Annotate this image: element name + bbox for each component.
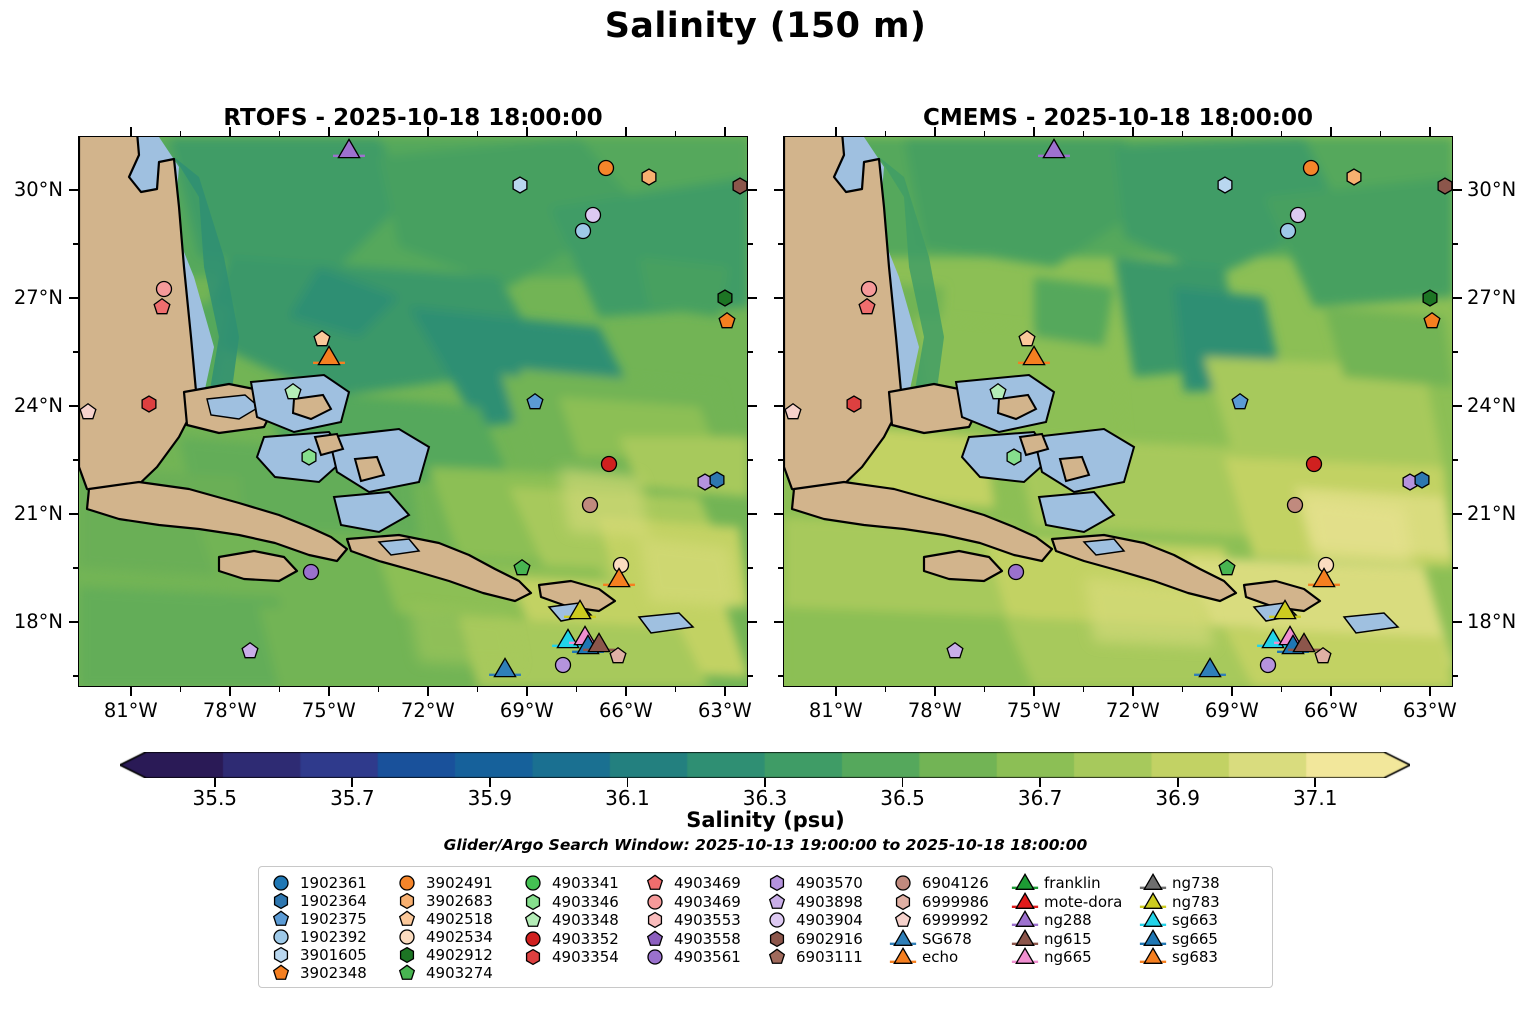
legend-marker-hexagon-icon bbox=[520, 893, 546, 911]
legend-item-sg665[interactable]: sg665 bbox=[1140, 930, 1220, 949]
legend-item-4902534[interactable]: 4902534 bbox=[394, 928, 520, 946]
map-panel-cmems[interactable] bbox=[783, 136, 1453, 687]
legend-item-4903341[interactable]: 4903341 bbox=[520, 874, 642, 893]
legend-item-sg683[interactable]: sg683 bbox=[1140, 948, 1220, 967]
xtick-major-top bbox=[1330, 127, 1332, 136]
legend-label: sg665 bbox=[1172, 930, 1218, 948]
legend-marker-circle-icon bbox=[642, 893, 668, 911]
legend-item-4903354[interactable]: 4903354 bbox=[520, 948, 642, 967]
legend-marker-circle-icon bbox=[520, 874, 546, 892]
xtick-major-top bbox=[835, 127, 837, 136]
map-marker-sg683[interactable] bbox=[316, 345, 341, 370]
map-marker-4903352[interactable] bbox=[1303, 452, 1326, 475]
map-marker-ng783[interactable] bbox=[567, 599, 592, 624]
legend-label: 1902364 bbox=[300, 892, 367, 910]
legend-item-franklin[interactable]: franklin bbox=[1012, 874, 1140, 893]
legend-marker-hexagon-icon bbox=[394, 892, 420, 910]
legend-item-4903352[interactable]: 4903352 bbox=[520, 930, 642, 949]
ytick-major-right bbox=[1453, 621, 1462, 623]
legend-item-6999986[interactable]: 6999986 bbox=[890, 893, 1012, 912]
ytick-major bbox=[69, 297, 78, 299]
legend-label: sg663 bbox=[1172, 911, 1218, 929]
ytick-major bbox=[69, 513, 78, 515]
legend-marker-circle-icon bbox=[520, 930, 546, 948]
xtick-minor-top bbox=[1182, 131, 1184, 136]
legend-marker-circle-icon bbox=[642, 948, 668, 966]
ytick-major bbox=[774, 513, 783, 515]
xtick-label: 69°W bbox=[482, 699, 572, 722]
ytick-minor bbox=[73, 243, 78, 245]
xtick-minor-top bbox=[984, 131, 986, 136]
map-marker-4903898[interactable] bbox=[238, 639, 261, 662]
ytick-minor-right bbox=[1453, 243, 1458, 245]
xtick-minor-top bbox=[576, 131, 578, 136]
legend-item-1902392[interactable]: 1902392 bbox=[268, 928, 394, 946]
ytick-minor-right bbox=[748, 243, 753, 245]
xtick-label: 75°W bbox=[284, 699, 374, 722]
legend-label: 4902912 bbox=[426, 946, 493, 964]
legend-label: 3902491 bbox=[426, 874, 493, 892]
ytick-major bbox=[774, 297, 783, 299]
map-marker-6904126[interactable] bbox=[578, 494, 601, 517]
xtick-major bbox=[1132, 687, 1134, 696]
legend-column-5: 49035704903898490390469029166903111 bbox=[764, 874, 890, 980]
legend-label: sg683 bbox=[1172, 948, 1218, 966]
xtick-major bbox=[328, 687, 330, 696]
legend-label: 4902518 bbox=[426, 910, 493, 928]
legend-marker-hexagon-icon bbox=[394, 946, 420, 964]
map-marker-4903348[interactable] bbox=[281, 380, 304, 403]
map-marker-SG678[interactable] bbox=[1198, 656, 1223, 681]
xtick-label: 81°W bbox=[86, 699, 176, 722]
xtick-label: 81°W bbox=[791, 699, 881, 722]
map-marker-4903469a[interactable] bbox=[151, 296, 174, 319]
map-marker-1902392[interactable] bbox=[1276, 220, 1299, 243]
legend-column-7: franklinmote-dorang288ng615ng665 bbox=[1012, 874, 1140, 980]
xtick-major bbox=[625, 687, 627, 696]
map-marker-1902364[interactable] bbox=[705, 468, 728, 491]
legend-item-3901605[interactable]: 3901605 bbox=[268, 946, 394, 964]
legend-item-4903346[interactable]: 4903346 bbox=[520, 893, 642, 912]
legend-label: ng783 bbox=[1172, 893, 1220, 911]
xtick-label: 66°W bbox=[1286, 699, 1376, 722]
xtick-label: 69°W bbox=[1187, 699, 1277, 722]
legend-item-4903904[interactable]: 4903904 bbox=[764, 911, 890, 930]
xtick-minor-top bbox=[279, 131, 281, 136]
legend-marker-hexagon-icon bbox=[268, 946, 294, 964]
search-window-text: Glider/Argo Search Window: 2025-10-13 19… bbox=[0, 836, 1531, 854]
xtick-major bbox=[130, 687, 132, 696]
legend-item-1902375[interactable]: 1902375 bbox=[268, 910, 394, 928]
map-marker-3902683[interactable] bbox=[637, 166, 660, 189]
xtick-major-top bbox=[526, 127, 528, 136]
legend-marker-circle-icon bbox=[268, 874, 294, 892]
legend-marker-hexagon-icon bbox=[764, 930, 790, 948]
legend-label: 6999986 bbox=[922, 893, 989, 911]
xtick-major bbox=[934, 687, 936, 696]
ytick-minor-right bbox=[748, 351, 753, 353]
ytick-minor bbox=[73, 459, 78, 461]
legend-label: 4903904 bbox=[796, 911, 863, 929]
ytick-minor bbox=[778, 675, 783, 677]
ytick-label-right: 27°N bbox=[1467, 286, 1531, 309]
xtick-label: 78°W bbox=[185, 699, 275, 722]
ytick-major bbox=[69, 189, 78, 191]
legend-label: 4903898 bbox=[796, 893, 863, 911]
legend-item-1902361[interactable]: 1902361 bbox=[268, 874, 394, 892]
map-marker-4903274[interactable] bbox=[510, 557, 533, 580]
legend-label: 4903341 bbox=[552, 874, 619, 892]
legend-item-6904126[interactable]: 6904126 bbox=[890, 874, 1012, 893]
legend-marker-hexagon-icon bbox=[890, 893, 916, 911]
legend-marker-triangle-line-icon bbox=[1012, 874, 1038, 892]
xtick-minor bbox=[1083, 687, 1085, 692]
legend-marker-triangle-line-icon bbox=[890, 948, 916, 966]
legend-item-4903469[interactable]: 4903469 bbox=[642, 874, 764, 893]
map-marker-6902916[interactable] bbox=[728, 175, 751, 198]
map-marker-1902392[interactable] bbox=[571, 220, 594, 243]
legend-label: 3902683 bbox=[426, 892, 493, 910]
xtick-major-top bbox=[934, 127, 936, 136]
legend-marker-triangle-line-icon bbox=[890, 930, 916, 948]
ytick-label: 24°N bbox=[0, 394, 63, 417]
xtick-major-top bbox=[328, 127, 330, 136]
legend-column-8: ng738ng783sg663sg665sg683 bbox=[1140, 874, 1220, 980]
xtick-minor-top bbox=[1380, 131, 1382, 136]
map-marker-sg683[interactable] bbox=[1021, 345, 1046, 370]
legend-label: 6904126 bbox=[922, 874, 989, 892]
legend-item-1902364[interactable]: 1902364 bbox=[268, 892, 394, 910]
legend-marker-pentagon-icon bbox=[394, 964, 420, 982]
xtick-major bbox=[427, 687, 429, 696]
map-marker-SG678[interactable] bbox=[493, 656, 518, 681]
legend-label: mote-dora bbox=[1044, 893, 1122, 911]
legend-marker-triangle-line-icon bbox=[1140, 874, 1166, 892]
map-marker-3902491[interactable] bbox=[1300, 157, 1323, 180]
ytick-minor bbox=[778, 243, 783, 245]
ytick-major bbox=[69, 621, 78, 623]
map-marker-3901605[interactable] bbox=[509, 173, 532, 196]
colorbar-tick-label: 36.1 bbox=[577, 786, 677, 810]
ytick-major bbox=[774, 621, 783, 623]
xtick-label: 66°W bbox=[581, 699, 671, 722]
legend-marker-triangle-line-icon bbox=[1012, 930, 1038, 948]
map-marker-ng288[interactable] bbox=[1041, 138, 1066, 163]
legend-item-ng288[interactable]: ng288 bbox=[1012, 911, 1140, 930]
legend-column-4: 49034694903469490355349035584903561 bbox=[642, 874, 764, 980]
legend-label: 4902534 bbox=[426, 928, 493, 946]
legend-marker-pentagon-icon bbox=[764, 948, 790, 966]
legend-item-ng783[interactable]: ng783 bbox=[1140, 893, 1220, 912]
map-marker-4903561[interactable] bbox=[1004, 560, 1027, 583]
xtick-label: 75°W bbox=[989, 699, 1079, 722]
legend-marker-pentagon-icon bbox=[394, 910, 420, 928]
xtick-minor bbox=[1281, 687, 1283, 692]
map-marker-4903570b[interactable] bbox=[1257, 654, 1280, 677]
map-marker-sg683b[interactable] bbox=[607, 566, 632, 591]
ytick-minor-right bbox=[748, 459, 753, 461]
legend-marker-pentagon-icon bbox=[890, 911, 916, 929]
legend-item-4903570[interactable]: 4903570 bbox=[764, 874, 890, 893]
colorbar-tick-label: 35.5 bbox=[165, 786, 265, 810]
legend-item-echo[interactable]: echo bbox=[890, 948, 1012, 967]
legend-marker-triangle-line-icon bbox=[1012, 911, 1038, 929]
xtick-minor-top bbox=[885, 131, 887, 136]
legend-label: 4903469 bbox=[674, 874, 741, 892]
ytick-label-right: 24°N bbox=[1467, 394, 1531, 417]
xtick-major bbox=[526, 687, 528, 696]
legend-label: 4903352 bbox=[552, 930, 619, 948]
ytick-label: 27°N bbox=[0, 286, 63, 309]
ytick-minor-right bbox=[1453, 567, 1458, 569]
ytick-major-right bbox=[748, 297, 757, 299]
xtick-label: 72°W bbox=[383, 699, 473, 722]
xtick-minor bbox=[1182, 687, 1184, 692]
ytick-minor bbox=[778, 351, 783, 353]
xtick-major bbox=[724, 687, 726, 696]
legend-item-sg663[interactable]: sg663 bbox=[1140, 911, 1220, 930]
legend-marker-pentagon-icon bbox=[642, 930, 668, 948]
xtick-minor bbox=[675, 687, 677, 692]
xtick-major-top bbox=[724, 127, 726, 136]
legend-marker-pentagon-icon bbox=[520, 911, 546, 929]
xtick-major bbox=[1330, 687, 1332, 696]
ytick-minor-right bbox=[1453, 351, 1458, 353]
ytick-minor-right bbox=[1453, 675, 1458, 677]
xtick-minor-top bbox=[1281, 131, 1283, 136]
legend-marker-triangle-line-icon bbox=[1012, 948, 1038, 966]
legend-label: ng665 bbox=[1044, 948, 1092, 966]
map-marker-3902683[interactable] bbox=[1342, 166, 1365, 189]
xtick-major bbox=[1231, 687, 1233, 696]
xtick-minor-top bbox=[477, 131, 479, 136]
legend-item-4903561[interactable]: 4903561 bbox=[642, 948, 764, 967]
ytick-minor-right bbox=[1453, 459, 1458, 461]
legend-label: 4903348 bbox=[552, 911, 619, 929]
ytick-label: 18°N bbox=[0, 610, 63, 633]
map-marker-4903346[interactable] bbox=[1003, 445, 1026, 468]
legend-marker-circle-icon bbox=[268, 928, 294, 946]
xtick-minor bbox=[1380, 687, 1382, 692]
ytick-major-right bbox=[748, 513, 757, 515]
xtick-major-top bbox=[229, 127, 231, 136]
colorbar-tick-label: 36.9 bbox=[1128, 786, 1228, 810]
ytick-minor bbox=[73, 567, 78, 569]
map-marker-4902912[interactable] bbox=[713, 287, 736, 310]
map-marker-3902348[interactable] bbox=[715, 310, 738, 333]
legend-item-4903348[interactable]: 4903348 bbox=[520, 911, 642, 930]
legend-label: 4903469 bbox=[674, 893, 741, 911]
ytick-label: 21°N bbox=[0, 502, 63, 525]
legend-item-ng738[interactable]: ng738 bbox=[1140, 874, 1220, 893]
xtick-major-top bbox=[1231, 127, 1233, 136]
xtick-major-top bbox=[625, 127, 627, 136]
legend-marker-hexagon-icon bbox=[642, 911, 668, 929]
ytick-label-right: 30°N bbox=[1467, 178, 1531, 201]
xtick-major bbox=[229, 687, 231, 696]
ytick-minor-right bbox=[748, 567, 753, 569]
map-marker-sg683b[interactable] bbox=[1312, 566, 1337, 591]
legend-marker-circle-icon bbox=[764, 911, 790, 929]
map-marker-ng783[interactable] bbox=[1272, 599, 1297, 624]
map-marker-6999986[interactable] bbox=[1311, 645, 1334, 668]
legend-item-3902348[interactable]: 3902348 bbox=[268, 964, 394, 982]
ytick-major-right bbox=[1453, 297, 1462, 299]
legend-label: 4903558 bbox=[674, 930, 741, 948]
map-marker-4903354[interactable] bbox=[842, 393, 865, 416]
map-marker-1902375[interactable] bbox=[1229, 391, 1252, 414]
legend-marker-circle-icon bbox=[394, 874, 420, 892]
ytick-minor-right bbox=[748, 675, 753, 677]
ytick-major bbox=[774, 189, 783, 191]
legend-label: 4903553 bbox=[674, 911, 741, 929]
legend-item-4903898[interactable]: 4903898 bbox=[764, 893, 890, 912]
legend-label: franklin bbox=[1044, 874, 1101, 892]
legend-label: 1902392 bbox=[300, 928, 367, 946]
map-marker-4903561[interactable] bbox=[299, 560, 322, 583]
panel-title-rtofs: RTOFS - 2025-10-18 18:00:00 bbox=[78, 105, 748, 131]
legend-label: 4903346 bbox=[552, 893, 619, 911]
xtick-label: 78°W bbox=[890, 699, 980, 722]
xtick-major-top bbox=[427, 127, 429, 136]
legend-marker-circle-icon bbox=[890, 874, 916, 892]
legend-marker-triangle-line-icon bbox=[1140, 893, 1166, 911]
xtick-minor bbox=[378, 687, 380, 692]
legend-item-4903558[interactable]: 4903558 bbox=[642, 930, 764, 949]
xtick-major-top bbox=[130, 127, 132, 136]
xtick-major bbox=[835, 687, 837, 696]
legend-marker-triangle-line-icon bbox=[1140, 948, 1166, 966]
ytick-minor bbox=[73, 351, 78, 353]
legend-item-6902916[interactable]: 6902916 bbox=[764, 930, 890, 949]
map-marker-4903346[interactable] bbox=[298, 445, 321, 468]
map-marker-1902375[interactable] bbox=[524, 391, 547, 414]
map-marker-ng288[interactable] bbox=[336, 138, 361, 163]
legend-item-4902912[interactable]: 4902912 bbox=[394, 946, 520, 964]
legend-item-6999992[interactable]: 6999992 bbox=[890, 911, 1012, 930]
map-marker-4903348[interactable] bbox=[986, 380, 1009, 403]
legend-marker-hexagon-icon bbox=[764, 874, 790, 892]
colorbar-label: Salinity (psu) bbox=[0, 808, 1531, 832]
map-marker-6902916[interactable] bbox=[1433, 175, 1456, 198]
xtick-minor bbox=[477, 687, 479, 692]
legend-item-4902518[interactable]: 4902518 bbox=[394, 910, 520, 928]
legend-label: 3901605 bbox=[300, 946, 367, 964]
legend-marker-hexagon-icon bbox=[520, 948, 546, 966]
xtick-minor bbox=[984, 687, 986, 692]
xtick-major-top bbox=[1429, 127, 1431, 136]
marker-legend[interactable]: 1902361190236419023751902392390160539023… bbox=[258, 866, 1273, 988]
map-marker-1902364[interactable] bbox=[1410, 468, 1433, 491]
xtick-major-top bbox=[1033, 127, 1035, 136]
map-marker-3902491[interactable] bbox=[595, 157, 618, 180]
ytick-major-right bbox=[1453, 405, 1462, 407]
xtick-minor bbox=[180, 687, 182, 692]
map-marker-6999992[interactable] bbox=[781, 400, 804, 423]
map-panel-rtofs[interactable] bbox=[78, 136, 748, 687]
legend-marker-triangle-line-icon bbox=[1140, 930, 1166, 948]
legend-label: echo bbox=[922, 948, 958, 966]
xtick-major bbox=[1033, 687, 1035, 696]
map-marker-3901605[interactable] bbox=[1214, 173, 1237, 196]
map-marker-4903352[interactable] bbox=[598, 452, 621, 475]
map-marker-3902348[interactable] bbox=[1420, 310, 1443, 333]
legend-column-1: 1902361190236419023751902392390160539023… bbox=[268, 874, 394, 980]
ytick-label: 30°N bbox=[0, 178, 63, 201]
legend-column-6: 690412669999866999992SG678echo bbox=[890, 874, 1012, 980]
colorbar-tick-label: 37.1 bbox=[1265, 786, 1365, 810]
legend-item-mote-dora[interactable]: mote-dora bbox=[1012, 893, 1140, 912]
colorbar-tick-label: 35.7 bbox=[302, 786, 402, 810]
ytick-major-right bbox=[748, 621, 757, 623]
xtick-major bbox=[1429, 687, 1431, 696]
colorbar-tick-label: 36.3 bbox=[715, 786, 815, 810]
legend-marker-hexagon-icon bbox=[268, 892, 294, 910]
legend-label: 6902916 bbox=[796, 930, 863, 948]
ytick-minor bbox=[778, 459, 783, 461]
legend-label: 4903570 bbox=[796, 874, 863, 892]
ytick-major-right bbox=[1453, 513, 1462, 515]
legend-label: 4903354 bbox=[552, 948, 619, 966]
map-marker-4903898[interactable] bbox=[943, 639, 966, 662]
map-marker-4903274[interactable] bbox=[1215, 557, 1238, 580]
map-marker-6999986[interactable] bbox=[606, 645, 629, 668]
legend-item-3902491[interactable]: 3902491 bbox=[394, 874, 520, 892]
panel-title-cmems: CMEMS - 2025-10-18 18:00:00 bbox=[783, 105, 1453, 131]
salinity-colorbar bbox=[120, 752, 1410, 778]
xtick-minor-top bbox=[180, 131, 182, 136]
legend-marker-pentagon-icon bbox=[642, 874, 668, 892]
legend-marker-pentagon-icon bbox=[268, 964, 294, 982]
legend-label: 3902348 bbox=[300, 964, 367, 982]
xtick-minor-top bbox=[378, 131, 380, 136]
xtick-minor-top bbox=[1083, 131, 1085, 136]
legend-item-ng665[interactable]: ng665 bbox=[1012, 948, 1140, 967]
legend-item-6903111[interactable]: 6903111 bbox=[764, 948, 890, 967]
legend-label: SG678 bbox=[922, 930, 972, 948]
legend-label: 4903274 bbox=[426, 964, 493, 982]
legend-marker-pentagon-icon bbox=[764, 893, 790, 911]
map-marker-6999992[interactable] bbox=[76, 400, 99, 423]
ytick-minor bbox=[73, 675, 78, 677]
colorbar-tick-label: 36.5 bbox=[853, 786, 953, 810]
legend-item-3902683[interactable]: 3902683 bbox=[394, 892, 520, 910]
legend-column-3: 49033414903346490334849033524903354 bbox=[520, 874, 642, 980]
legend-item-4903274[interactable]: 4903274 bbox=[394, 964, 520, 982]
map-marker-4903354[interactable] bbox=[137, 393, 160, 416]
legend-item-4903469[interactable]: 4903469 bbox=[642, 893, 764, 912]
ytick-minor bbox=[778, 567, 783, 569]
legend-label: 1902375 bbox=[300, 910, 367, 928]
map-marker-4902912[interactable] bbox=[1418, 287, 1441, 310]
xtick-label: 72°W bbox=[1088, 699, 1178, 722]
map-marker-6904126[interactable] bbox=[1283, 494, 1306, 517]
xtick-minor bbox=[279, 687, 281, 692]
legend-marker-triangle-line-icon bbox=[1012, 893, 1038, 911]
legend-label: 1902361 bbox=[300, 874, 367, 892]
legend-item-SG678[interactable]: SG678 bbox=[890, 930, 1012, 949]
legend-item-4903553[interactable]: 4903553 bbox=[642, 911, 764, 930]
legend-label: ng288 bbox=[1044, 911, 1092, 929]
legend-item-ng615[interactable]: ng615 bbox=[1012, 930, 1140, 949]
colorbar-tick-label: 36.7 bbox=[990, 786, 1090, 810]
map-marker-4903469a[interactable] bbox=[856, 296, 879, 319]
ytick-major-right bbox=[748, 405, 757, 407]
legend-label: ng738 bbox=[1172, 874, 1220, 892]
colorbar-tick-label: 35.9 bbox=[440, 786, 540, 810]
map-marker-4903570b[interactable] bbox=[552, 654, 575, 677]
xtick-label: 63°W bbox=[1385, 699, 1475, 722]
